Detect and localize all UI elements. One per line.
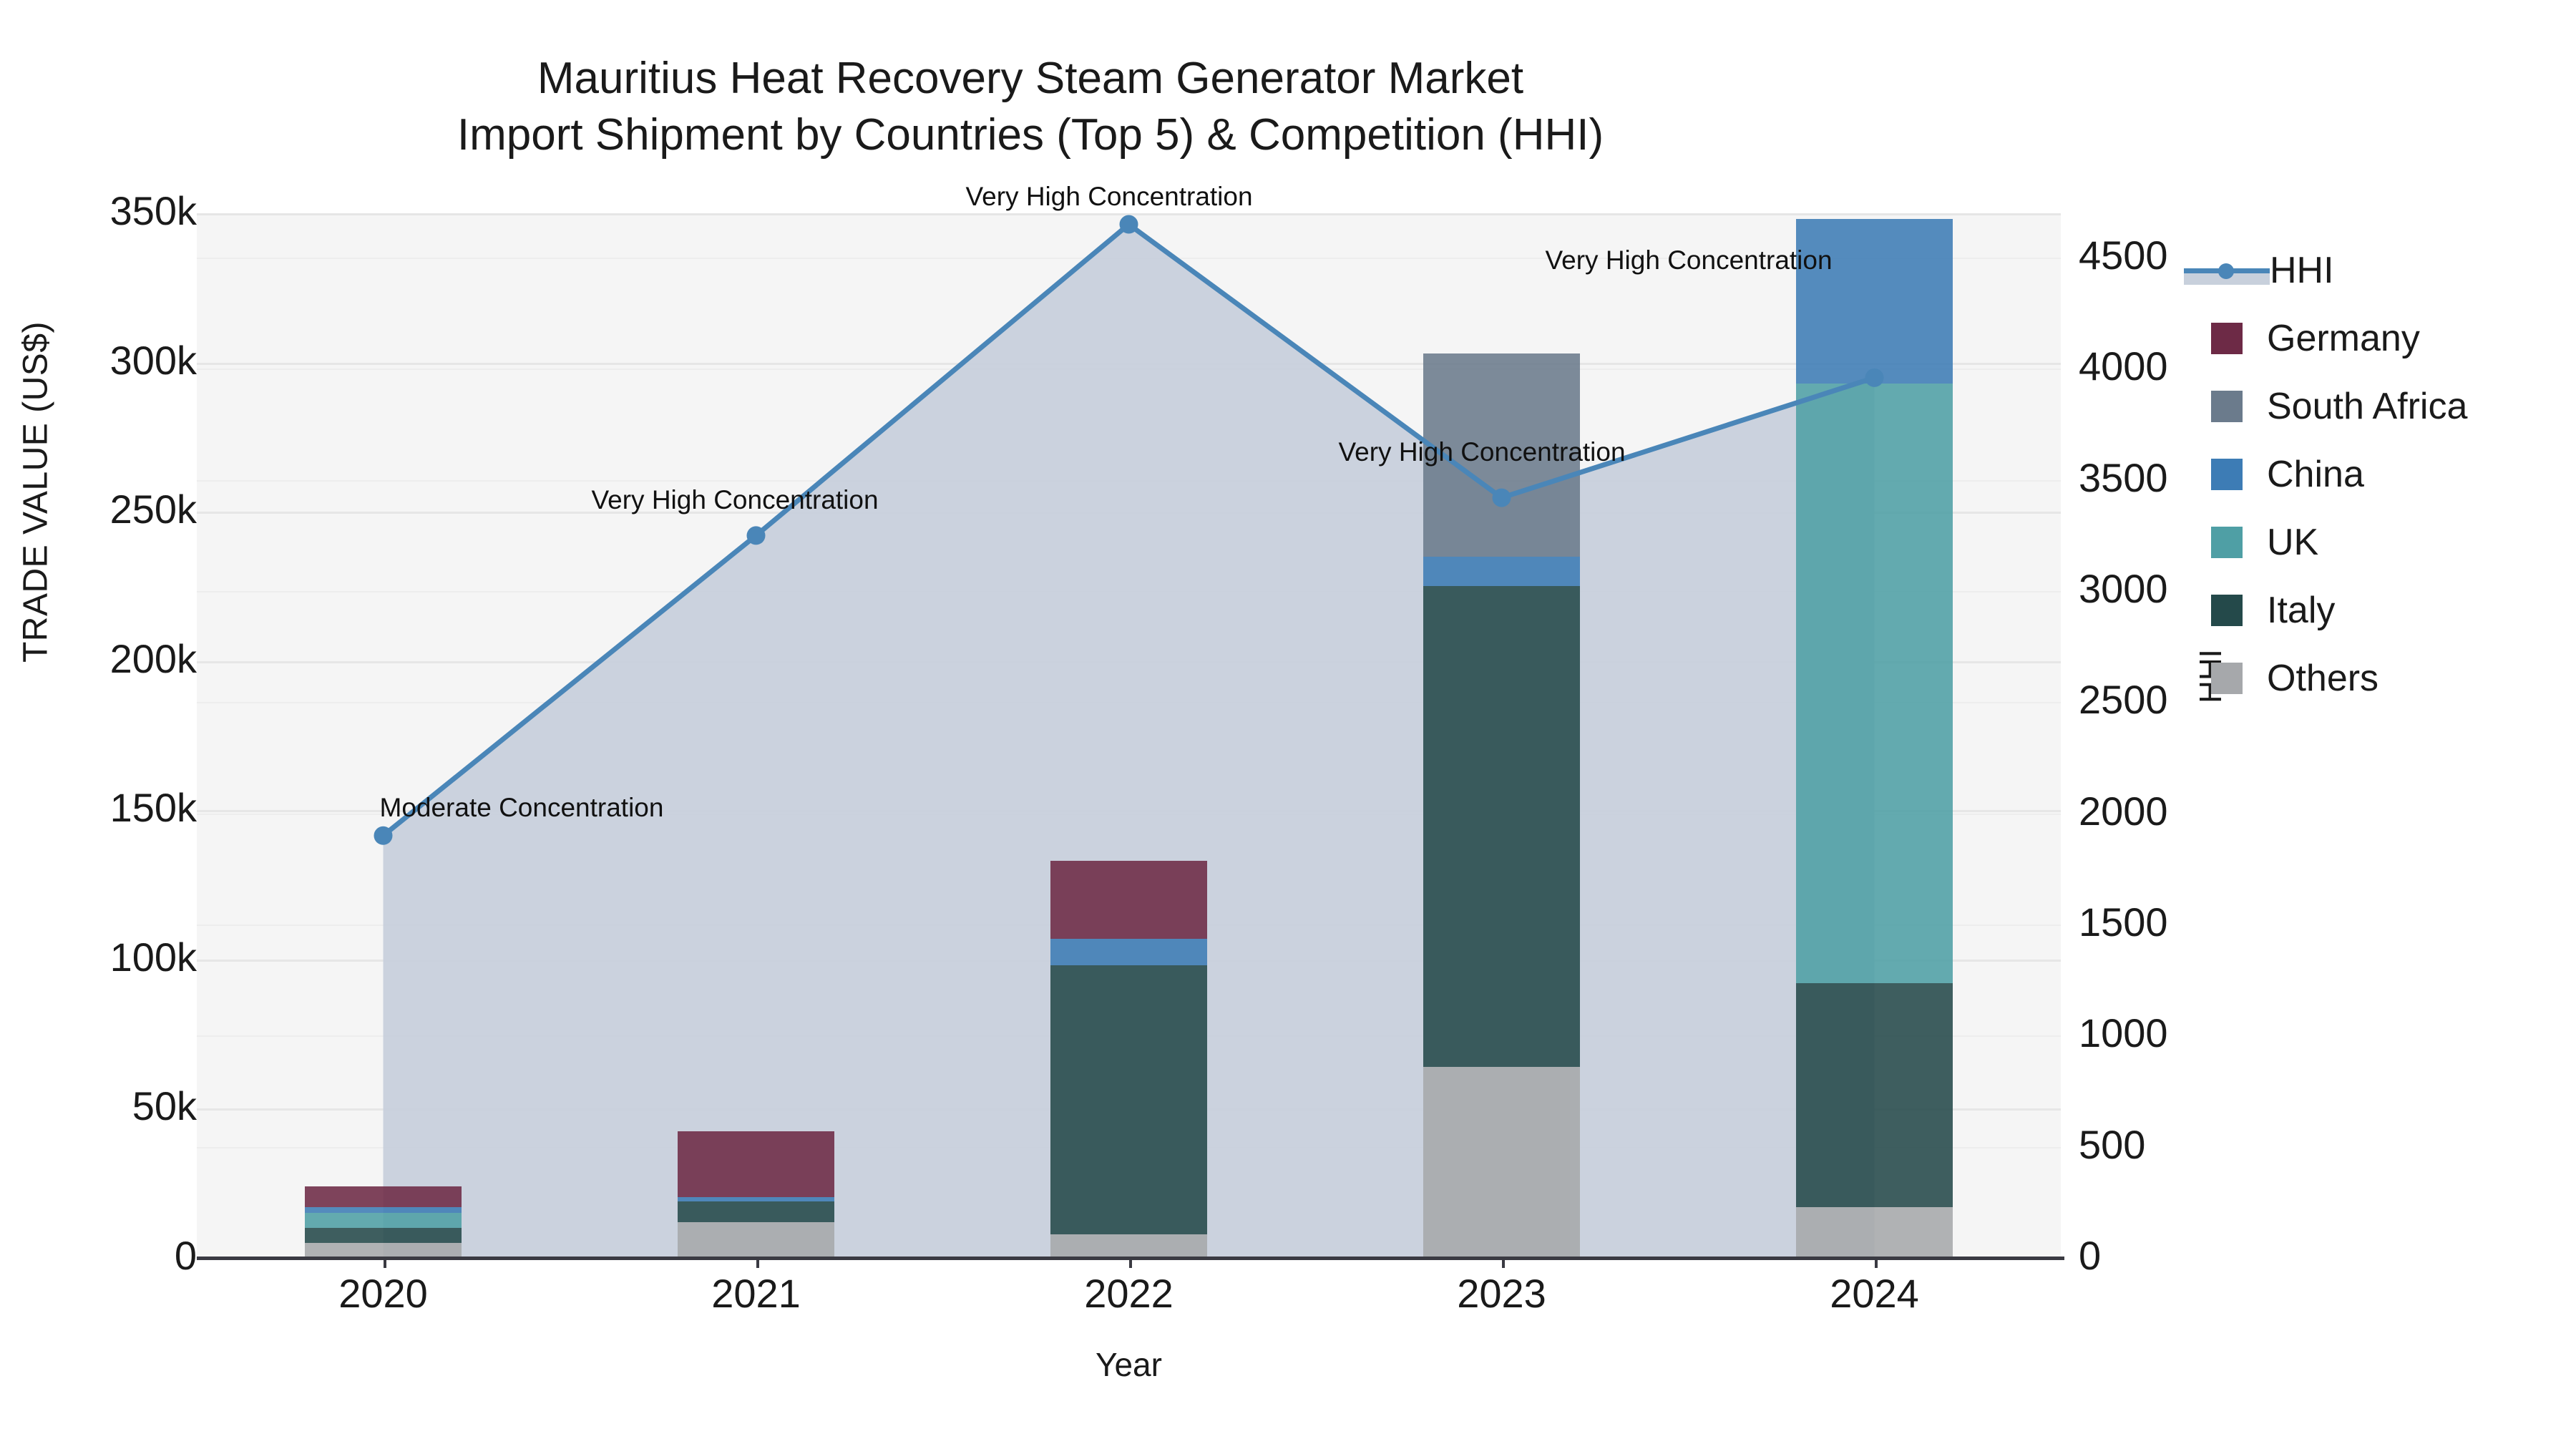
y-axis-left-title: TRADE VALUE (US$) [16,220,56,764]
y-axis-left-tick-label: 250k [110,486,197,532]
y-axis-left-tick-label: 100k [110,934,197,980]
legend: HHIGermanySouth AfricaChinaUKItalyOthers [2211,236,2555,712]
chart-title-line2: Import Shipment by Countries (Top 5) & C… [0,107,2061,163]
x-axis-tick-mark [1502,1257,1505,1268]
y-axis-left-tick-label: 50k [132,1083,197,1129]
chart-title: Mauritius Heat Recovery Steam Generator … [0,50,2061,164]
y-axis-right-tick-label: 4500 [2079,232,2168,278]
legend-item-uk[interactable]: UK [2211,508,2555,576]
x-axis-tick-mark [756,1257,759,1268]
x-axis-title: Year [197,1345,2061,1384]
legend-label: Others [2267,657,2379,700]
y-axis-right-tick-label: 2500 [2079,676,2168,723]
plot-area [197,213,2061,1258]
y-axis-right-tick-label: 3500 [2079,454,2168,501]
hhi-annotation: Very High Concentration [1546,245,1833,275]
hhi-marker[interactable] [747,526,766,545]
y-axis-right-tick-label: 0 [2079,1232,2101,1279]
chart-canvas: Mauritius Heat Recovery Steam Generator … [0,0,2576,1449]
legend-item-south-africa[interactable]: South Africa [2211,372,2555,440]
x-axis-tick-label: 2022 [1022,1270,1236,1317]
hhi-marker[interactable] [374,826,393,845]
y-axis-right-tick-label: 3000 [2079,565,2168,612]
legend-item-hhi[interactable]: HHI [2211,236,2555,304]
legend-item-germany[interactable]: Germany [2211,304,2555,372]
hhi-annotation: Moderate Concentration [380,793,664,823]
legend-swatch-icon [2211,391,2243,422]
y-axis-right-tick-label: 1500 [2079,899,2168,945]
x-axis-tick-label: 2023 [1395,1270,1609,1317]
y-axis-left-tick-label: 200k [110,635,197,682]
legend-item-china[interactable]: China [2211,440,2555,508]
hhi-marker[interactable] [1120,215,1138,234]
legend-item-others[interactable]: Others [2211,644,2555,712]
chart-title-line1: Mauritius Heat Recovery Steam Generator … [0,50,2061,107]
hhi-annotation: Very High Concentration [592,485,879,515]
x-axis-tick-mark [384,1257,386,1268]
y-axis-right-tick-label: 500 [2079,1121,2145,1168]
hhi-annotation: Very High Concentration [1339,437,1626,467]
y-axis-right-tick-label: 2000 [2079,788,2168,834]
legend-swatch-icon [2211,595,2243,626]
x-axis-tick-mark [1875,1257,1878,1268]
x-axis-tick-mark [1129,1257,1132,1268]
hhi-line-series [197,213,2061,1258]
legend-swatch-icon [2211,459,2243,490]
y-axis-left-tick-label: 0 [175,1232,197,1279]
hhi-line [384,225,1875,836]
x-axis-tick-label: 2020 [276,1270,491,1317]
legend-swatch-icon [2211,663,2243,694]
legend-label: South Africa [2267,385,2467,428]
hhi-marker[interactable] [1865,369,1884,387]
legend-line-icon [2184,255,2270,286]
x-axis-tick-label: 2021 [649,1270,864,1317]
y-axis-right-tick-label: 1000 [2079,1010,2168,1056]
y-axis-right-tick-label: 4000 [2079,343,2168,389]
legend-label: HHI [2270,249,2334,292]
legend-label: UK [2267,521,2318,564]
y-axis-left-tick-label: 150k [110,784,197,831]
legend-label: Germany [2267,317,2420,360]
hhi-annotation: Very High Concentration [966,182,1253,212]
x-axis-tick-label: 2024 [1767,1270,1982,1317]
legend-swatch-icon [2211,527,2243,558]
y-axis-left-tick-label: 350k [110,187,197,234]
hhi-marker[interactable] [1493,489,1511,507]
legend-item-italy[interactable]: Italy [2211,576,2555,644]
legend-label: Italy [2267,589,2335,632]
legend-label: China [2267,453,2364,496]
y-axis-left-tick-label: 300k [110,337,197,384]
legend-swatch-icon [2211,323,2243,354]
